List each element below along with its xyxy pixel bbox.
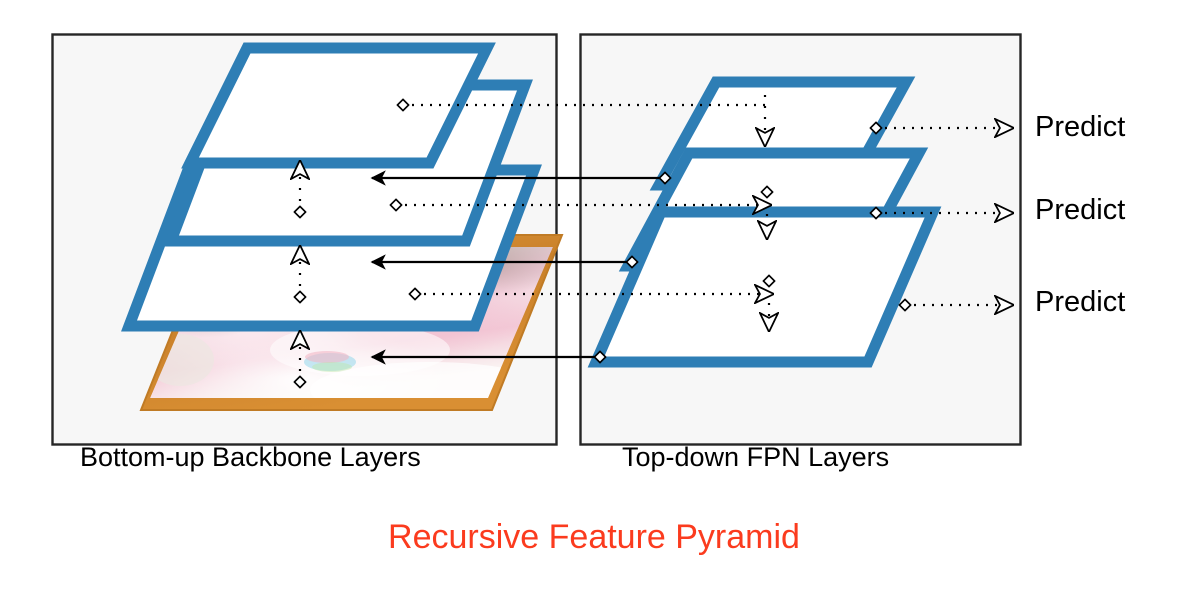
fpn-layer-1 bbox=[596, 212, 933, 362]
predict-label-1: Predict bbox=[1035, 113, 1125, 142]
predict-label-2: Predict bbox=[1035, 196, 1125, 225]
figure-canvas bbox=[0, 0, 1188, 594]
panel-fpn-label: Top-down FPN Layers bbox=[622, 444, 889, 471]
recursive-feature-pyramid-figure: Bottom-up Backbone Layers Top-down FPN L… bbox=[0, 0, 1188, 594]
figure-title: Recursive Feature Pyramid bbox=[0, 520, 1188, 554]
panel-backbone-label: Bottom-up Backbone Layers bbox=[80, 444, 421, 471]
predict-label-3: Predict bbox=[1035, 288, 1125, 317]
backbone-layer-3 bbox=[190, 48, 487, 163]
